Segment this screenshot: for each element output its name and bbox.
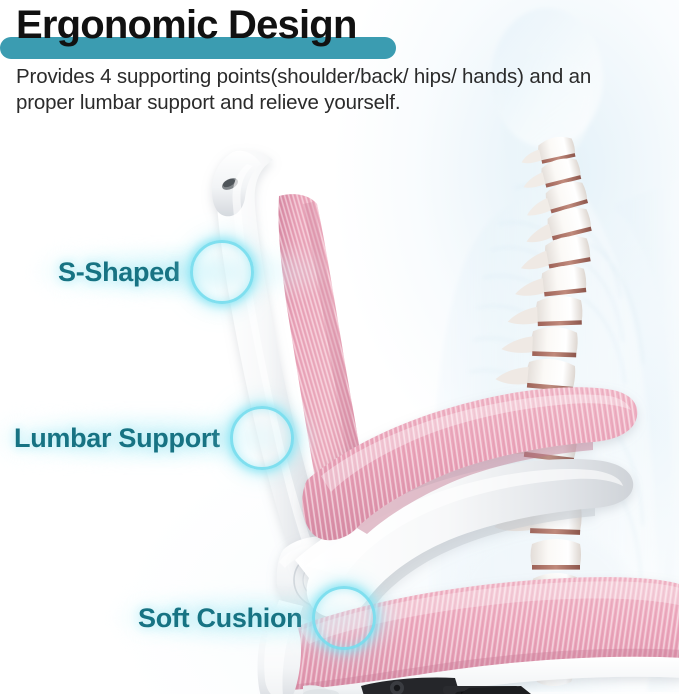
- title-wrap: Ergonomic Design: [0, 0, 679, 62]
- highlight-ring-soft-cushion: [312, 586, 376, 650]
- callout-s-shaped: S-Shaped: [58, 244, 254, 300]
- callout-soft-cushion: Soft Cushion: [138, 590, 376, 646]
- callout-label-lumbar-support: Lumbar Support: [14, 423, 220, 454]
- infographic-canvas: Ergonomic Design Provides 4 supporting p…: [0, 0, 679, 694]
- page-title: Ergonomic Design: [16, 2, 357, 48]
- header-block: Ergonomic Design Provides 4 supporting p…: [0, 0, 679, 62]
- highlight-ring-s-shaped: [190, 240, 254, 304]
- page-subtitle: Provides 4 supporting points(shoulder/ba…: [16, 64, 616, 116]
- callout-label-s-shaped: S-Shaped: [58, 257, 180, 288]
- highlight-ring-lumbar-support: [230, 406, 294, 470]
- callout-lumbar-support: Lumbar Support: [14, 410, 294, 466]
- callout-label-soft-cushion: Soft Cushion: [138, 603, 302, 634]
